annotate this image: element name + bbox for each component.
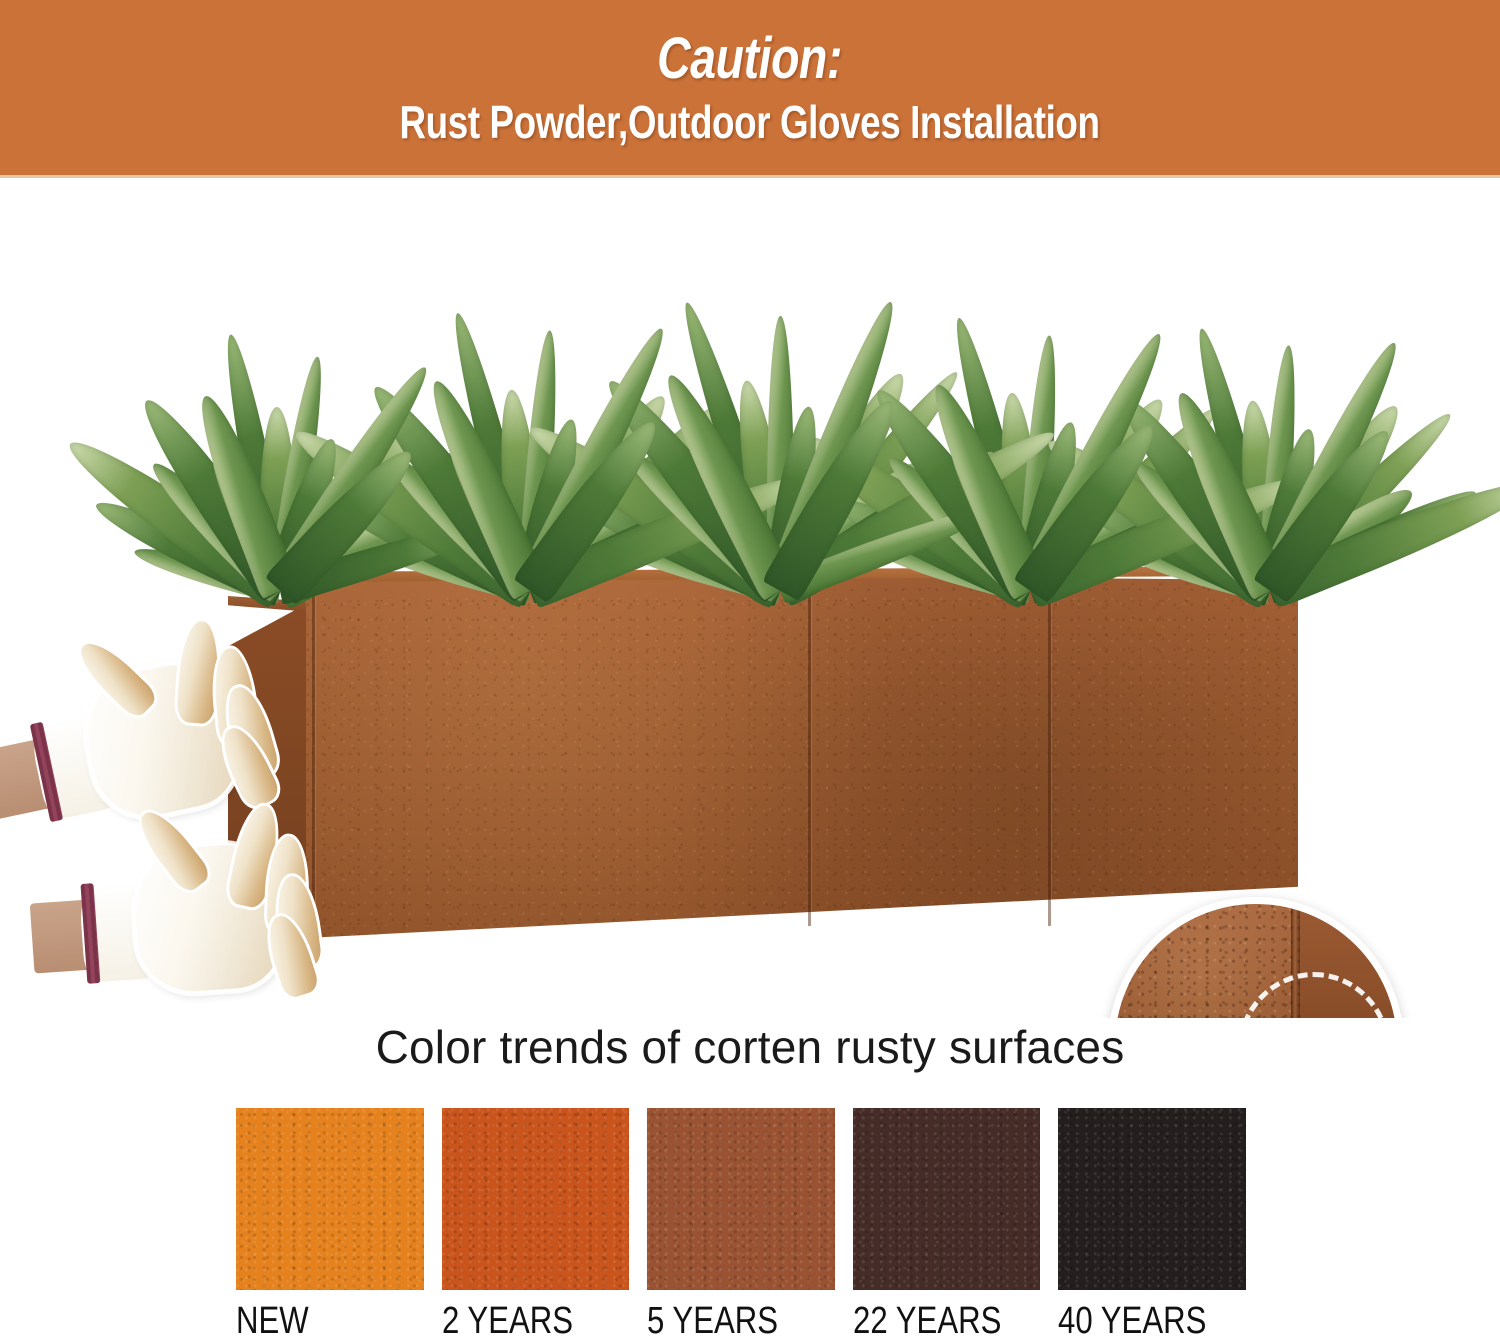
color-swatch-chip — [647, 1108, 835, 1290]
color-swatch-label: 22 YEARS — [853, 1299, 1007, 1343]
screw-installation-inset — [1108, 897, 1404, 1021]
color-swatch-label: NEW — [236, 1299, 390, 1343]
planter-rust-texture — [306, 572, 1298, 938]
color-swatch-chip — [853, 1108, 1041, 1290]
caution-banner: Caution: Rust Powder,Outdoor Gloves Inst… — [0, 0, 1500, 178]
color-trend-section: Color trends of corten rusty surfaces NE… — [0, 1018, 1500, 1343]
swatch-grain-texture — [442, 1108, 630, 1290]
color-swatch-chip — [1058, 1108, 1246, 1290]
planter-front-panel — [306, 572, 1298, 938]
work-glove — [53, 781, 427, 1021]
plant-cluster-group — [110, 211, 1400, 591]
hero-product-photo — [0, 181, 1500, 1021]
swatch-grain-texture — [1058, 1108, 1246, 1290]
swatch-grain-texture — [853, 1108, 1041, 1290]
planter-seam — [808, 586, 811, 926]
plant-cluster — [150, 261, 410, 591]
color-swatch-label: 2 YEARS — [442, 1299, 596, 1343]
color-swatch-chip — [236, 1108, 424, 1290]
color-swatch-label: 5 YEARS — [647, 1299, 801, 1343]
color-swatch-cell: 5 YEARS — [647, 1108, 835, 1343]
color-swatch-cell: 2 YEARS — [442, 1108, 630, 1343]
swatch-grain-texture — [647, 1108, 835, 1290]
color-swatch-cell: 40 YEARS — [1058, 1108, 1246, 1343]
plant-cluster — [400, 228, 660, 591]
color-swatch-cell: 22 YEARS — [853, 1108, 1041, 1343]
color-swatch-label: 40 YEARS — [1058, 1299, 1212, 1343]
caution-heading: Caution: — [658, 28, 843, 90]
planter-seam — [1048, 592, 1051, 926]
color-swatch-cell: NEW — [236, 1108, 424, 1343]
color-swatch-row: NEW2 YEARS5 YEARS22 YEARS40 YEARS — [236, 1108, 1246, 1343]
color-swatch-chip — [442, 1108, 630, 1290]
gloves-group — [0, 611, 420, 1011]
color-trend-title: Color trends of corten rusty surfaces — [0, 1018, 1500, 1076]
caution-subheading: Rust Powder,Outdoor Gloves Installation — [400, 96, 1100, 148]
swatch-grain-texture — [236, 1108, 424, 1290]
product-infographic: Caution: Rust Powder,Outdoor Gloves Inst… — [0, 0, 1500, 1343]
